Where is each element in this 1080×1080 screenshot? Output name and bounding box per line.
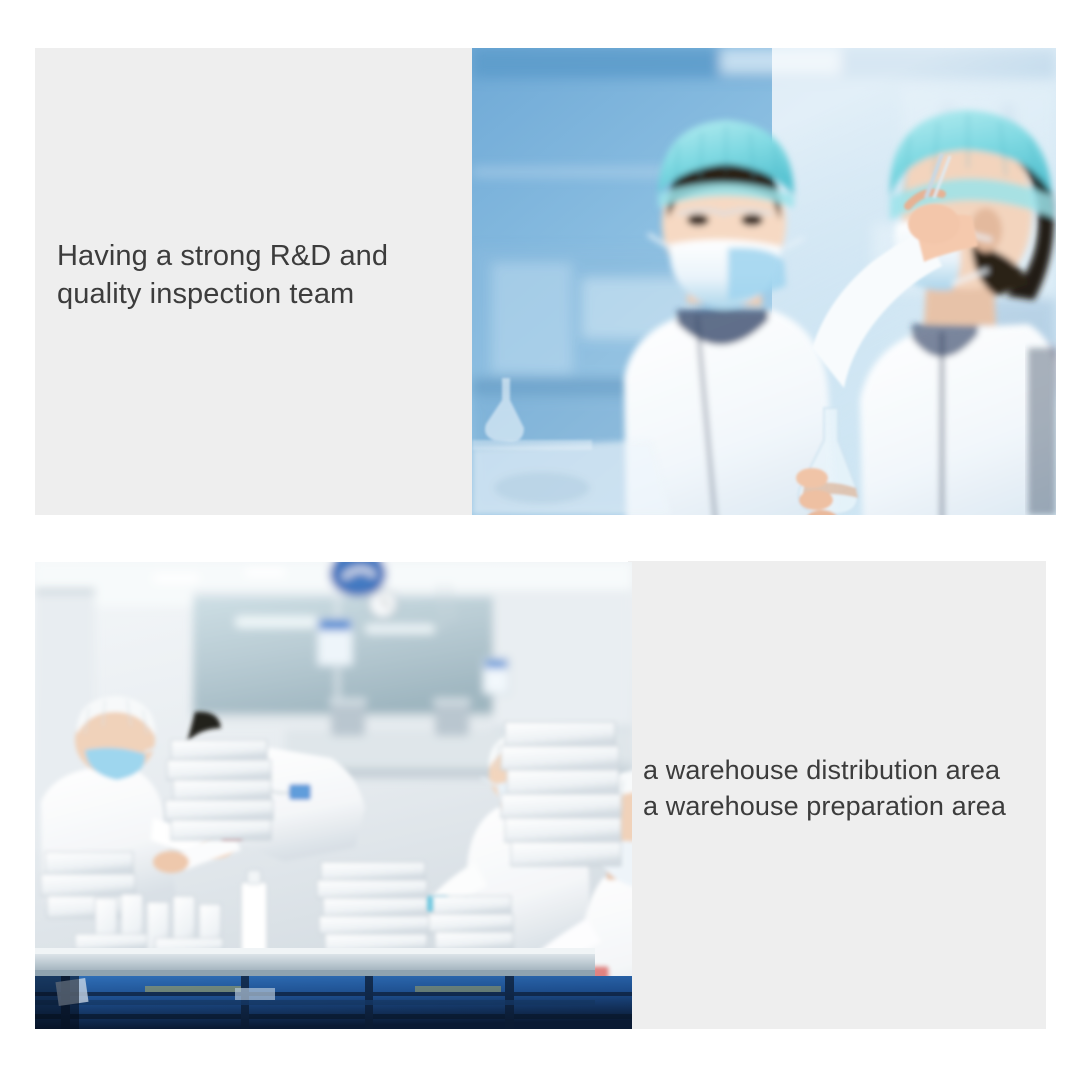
warehouse-packing-photo [35,562,632,1029]
bottom-caption-text: a warehouse distribution area a warehous… [643,753,1053,825]
lab-quality-inspection-illustration [472,48,1056,515]
top-section: Having a strong R&D and quality inspecti… [0,0,1080,540]
warehouse-packing-illustration [35,562,632,1029]
lab-quality-inspection-photo [472,48,1056,515]
top-caption-text: Having a strong R&D and quality inspecti… [57,238,457,313]
bottom-section: a warehouse distribution area a warehous… [0,540,1080,1080]
